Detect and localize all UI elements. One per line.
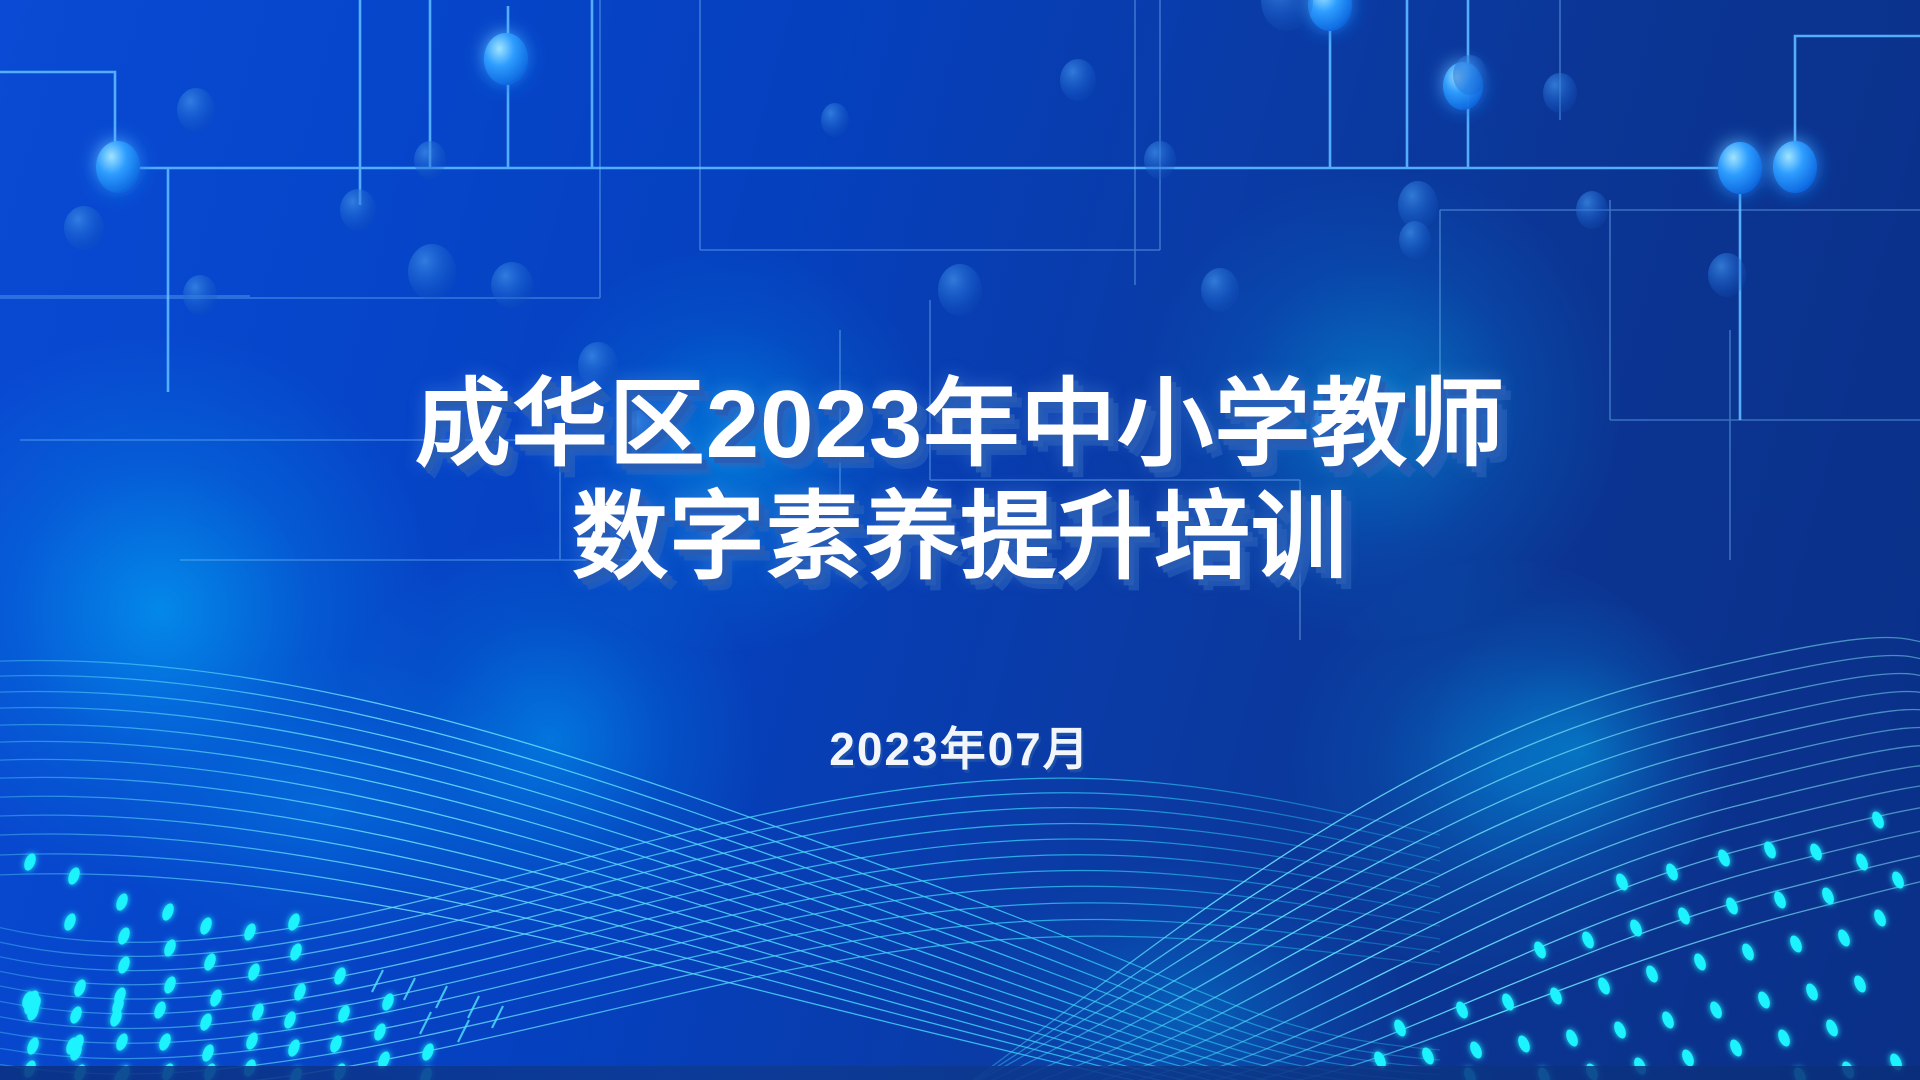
slide-subtitle-date: 2023年07月 [829,713,1091,779]
slide-title: 成华区2023年中小学教师 数字素养提升培训 [415,368,1506,595]
title-line-2: 数字素养提升培训 [415,481,1506,594]
title-line-1: 成华区2023年中小学教师 [415,368,1506,481]
presentation-slide: 成华区2023年中小学教师 数字素养提升培训 2023年07月 [0,0,1920,1080]
slide-content: 成华区2023年中小学教师 数字素养提升培训 2023年07月 [0,0,1920,1080]
